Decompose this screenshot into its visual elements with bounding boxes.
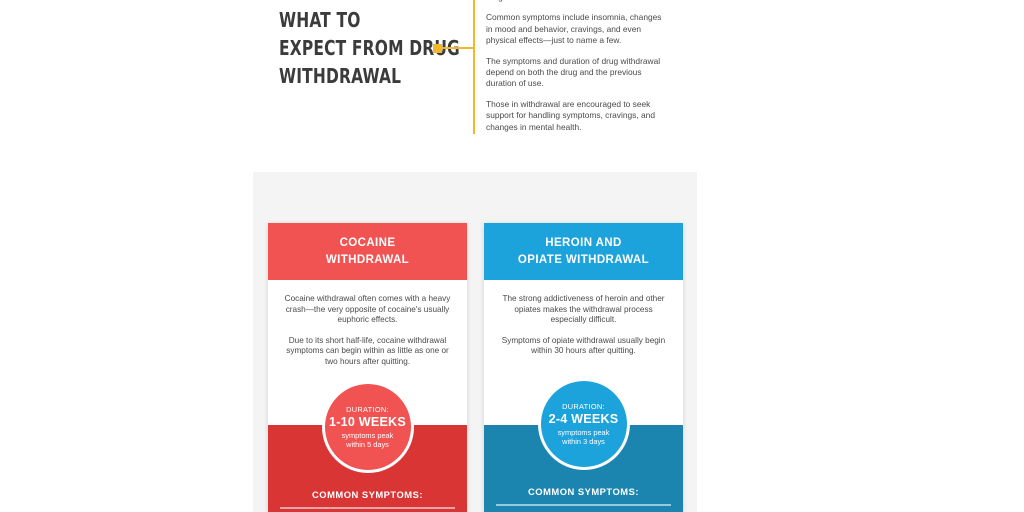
card-heroin-title-line-2: OPIATE WITHDRAWAL	[518, 254, 649, 266]
card-heroin-duration-note-line-1: symptoms peak	[558, 428, 610, 437]
page-title-line-2: EXPECT FROM DRUG	[279, 34, 417, 62]
card-cocaine-duration-label: DURATION:	[346, 405, 389, 415]
page-title-line-1: WHAT TO	[279, 6, 417, 34]
card-cocaine-paragraph-0: Cocaine withdrawal often comes with a he…	[281, 294, 454, 326]
intro-paragraph-3: Those in withdrawal are encouraged to se…	[486, 99, 668, 133]
connector-dot-icon	[433, 44, 442, 53]
intro-paragraph-1: Common symptoms include insomnia, change…	[486, 12, 668, 46]
card-heroin-duration-note: symptoms peak within 3 days	[558, 428, 610, 447]
card-heroin-paragraph-1: Symptoms of opiate withdrawal usually be…	[497, 336, 670, 357]
card-cocaine-duration-note-line-1: symptoms peak	[342, 431, 394, 440]
card-cocaine-withdrawal: COCAINE WITHDRAWAL Cocaine withdrawal of…	[268, 223, 467, 512]
card-heroin-header: HEROIN AND OPIATE WITHDRAWAL	[484, 223, 683, 280]
card-heroin-duration-badge: DURATION: 2-4 WEEKS symptoms peak within…	[541, 381, 627, 467]
card-cocaine-title-line-1: COCAINE	[340, 237, 396, 249]
card-cocaine-duration-badge: DURATION: 1-10 WEEKS symptoms peak withi…	[325, 384, 411, 470]
card-heroin-opiate-withdrawal: HEROIN AND OPIATE WITHDRAWAL The strong …	[484, 223, 683, 512]
card-heroin-symptoms-divider	[496, 504, 671, 506]
card-cocaine-title-line-2: WITHDRAWAL	[326, 254, 409, 266]
card-heroin-body: The strong addictiveness of heroin and o…	[484, 280, 683, 357]
intro-section: WHAT TO EXPECT FROM DRUG WITHDRAWAL drug…	[0, 0, 1024, 160]
card-heroin-duration-note-line-2: within 3 days	[562, 437, 605, 446]
card-cocaine-symptoms-divider	[280, 507, 455, 509]
page-title: WHAT TO EXPECT FROM DRUG WITHDRAWAL	[279, 6, 417, 90]
page-title-line-3: WITHDRAWAL	[279, 62, 417, 90]
card-cocaine-duration-note: symptoms peak within 5 days	[342, 431, 394, 450]
intro-paragraph-0: drug itself.	[486, 0, 668, 3]
connector-horizontal-line	[442, 47, 474, 49]
card-heroin-paragraph-0: The strong addictiveness of heroin and o…	[497, 294, 670, 326]
connector-vertical-line	[473, 0, 475, 134]
card-heroin-duration-label: DURATION:	[562, 402, 605, 412]
card-heroin-duration-value: 2-4 WEEKS	[549, 412, 619, 427]
intro-paragraph-2: The symptoms and duration of drug withdr…	[486, 56, 668, 90]
card-cocaine-header: COCAINE WITHDRAWAL	[268, 223, 467, 280]
card-cocaine-duration-value: 1-10 WEEKS	[329, 415, 406, 430]
card-cocaine-body: Cocaine withdrawal often comes with a he…	[268, 280, 467, 368]
card-cocaine-paragraph-1: Due to its short half-life, cocaine with…	[281, 336, 454, 368]
card-cocaine-duration-note-line-2: within 5 days	[346, 440, 389, 449]
card-cocaine-symptoms-heading: COMMON SYMPTOMS:	[268, 489, 467, 500]
card-heroin-symptoms-heading: COMMON SYMPTOMS:	[484, 486, 683, 497]
card-heroin-title-line-1: HEROIN AND	[545, 237, 621, 249]
intro-copy: drug itself. Common symptoms include ins…	[486, 0, 668, 133]
